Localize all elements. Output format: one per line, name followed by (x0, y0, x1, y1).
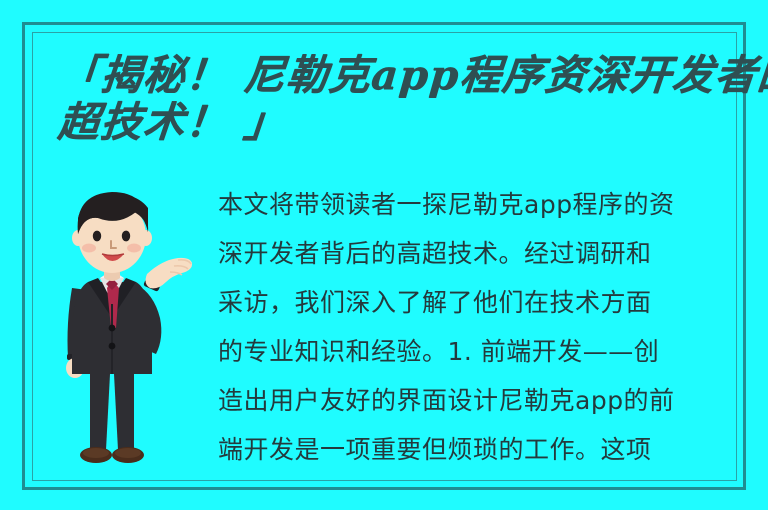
body-line-3: 采访，我们深入了解了他们在技术方面 (218, 278, 736, 327)
body-line-6: 端开发是一项重要但烦琐的工作。这项 (218, 425, 736, 474)
title-line-1: 「揭秘！ 尼勒克app程序资深开发者的高 (56, 52, 750, 99)
body-line-1: 本文将带领读者一探尼勒克app程序的资 (218, 180, 736, 229)
body-line-5: 造出用户友好的界面设计尼勒克app的前 (218, 376, 736, 425)
article-title: 「揭秘！ 尼勒克app程序资深开发者的高 超技术！ 」 (58, 52, 748, 146)
businessman-illustration (54, 178, 214, 478)
article-body: 本文将带领读者一探尼勒克app程序的资 深开发者背后的高超技术。经过调研和 采访… (218, 180, 736, 474)
article-card: 「揭秘！ 尼勒克app程序资深开发者的高 超技术！ 」 本文将带领读者一探尼勒克… (0, 0, 768, 510)
body-line-2: 深开发者背后的高超技术。经过调研和 (218, 229, 736, 278)
body-line-4: 的专业知识和经验。1. 前端开发——创 (218, 327, 736, 376)
title-line-2: 超技术！ 」 (56, 99, 750, 146)
